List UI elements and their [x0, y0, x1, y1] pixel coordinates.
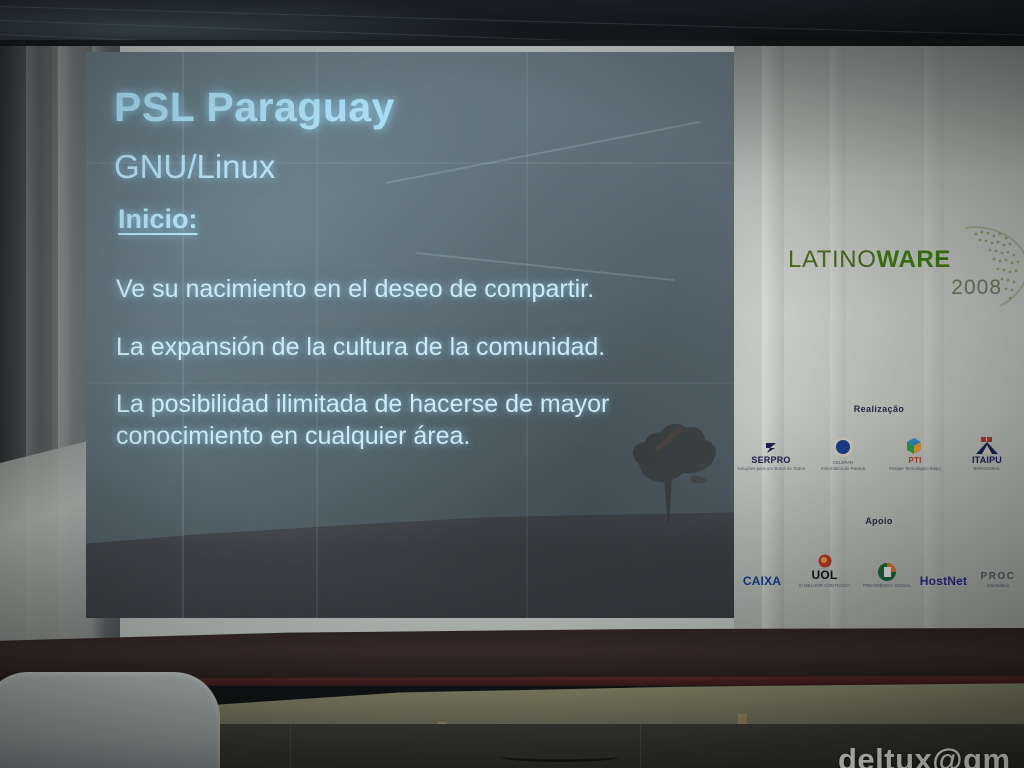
serpro-mark-icon [764, 441, 778, 455]
uol-mark-icon [818, 554, 832, 568]
sponsor-name: PROC [981, 571, 1016, 582]
slide-bullet: La expansión de la cultura de la comunid… [116, 332, 716, 364]
globe-icon [960, 224, 1024, 312]
sponsor-name: ITAIPU [972, 455, 1002, 465]
chair-back [0, 672, 220, 768]
projected-slide: PSL Paraguay GNU/Linux Inicio: Ve su nac… [86, 52, 734, 618]
realizacao-heading: Realização [734, 404, 1024, 414]
sponsor-name: CELEPAR [833, 460, 854, 465]
slide-title: PSL Paraguay [114, 84, 395, 131]
sponsor-caixa: CAIXA [736, 574, 788, 588]
slide-text-block: PSL Paraguay GNU/Linux Inicio: Ve su nac… [86, 52, 734, 618]
slide-subtitle: GNU/Linux [114, 148, 275, 186]
latinoware-word-bold: WARE [877, 246, 951, 273]
sponsor-name: HostNet [920, 574, 967, 588]
photo-scene: PSL Paraguay GNU/Linux Inicio: Ve su nac… [0, 0, 1024, 768]
sponsor-name: CAIXA [743, 574, 781, 588]
sponsor-pti: PTI Parque Tecnológico Itaipu [884, 436, 946, 471]
sponsor-itaipu: ITAIPU BINACIONAL [956, 437, 1018, 471]
realizacao-sponsor-row: SERPRO Soluções para um Brasil de Todos … [734, 436, 1024, 471]
sponsor-hostnet: HostNet [920, 574, 968, 588]
apoio-heading: Apoio [734, 516, 1024, 526]
banner-wrinkle [924, 46, 944, 638]
pti-mark-icon [905, 436, 925, 456]
sponsor-name: PTI [908, 456, 921, 465]
sponsor-tagline: Soluções para um Brasil de Todos [737, 466, 805, 471]
floor-cable [500, 752, 620, 762]
previdencia-mark-icon [876, 562, 898, 582]
slide-bullet-list: Ve su nacimiento en el deseo de comparti… [116, 274, 716, 478]
latinoware-word-light: LATINO [788, 246, 877, 273]
sponsor-tagline: Parque Tecnológico Itaipu [889, 466, 941, 471]
sponsor-proc: PROC informática [974, 571, 1022, 588]
celepar-mark-icon [832, 436, 854, 458]
sponsor-tagline: O MELHOR CONTEÚDO [799, 583, 850, 588]
slide-section-heading: Inicio: [118, 204, 198, 235]
banner-shading [734, 46, 1024, 638]
photo-watermark: deltux@gm [838, 742, 1011, 768]
floor-seam [640, 724, 641, 768]
banner-printed-area: LATINOWARE 2008 Realização SERPRO Soluçõ… [734, 46, 1024, 638]
sponsor-celepar: CELEPAR Informática do Paraná [812, 436, 874, 471]
apoio-sponsor-row: CAIXA UOL O MELHOR CONTEÚDO PREVIDÊNCIA … [734, 554, 1024, 588]
slide-bullet: Ve su nacimiento en el deseo de comparti… [116, 274, 716, 306]
sponsor-name: SERPRO [751, 455, 790, 465]
latinoware-logo: LATINOWARE 2008 [788, 246, 1018, 300]
sponsor-name: UOL [812, 568, 838, 582]
itaipu-mark-icon [974, 437, 1000, 455]
sponsor-tagline: PREVIDÊNCIA SOCIAL [863, 583, 911, 588]
sponsor-serpro: SERPRO Soluções para um Brasil de Todos [740, 441, 802, 471]
slide-bullet: La posibilidad ilimitada de hacerse de m… [116, 389, 716, 452]
sponsor-tagline: Informática do Paraná [821, 466, 865, 471]
table-cloth [0, 440, 92, 670]
sponsor-previdencia: PREVIDÊNCIA SOCIAL [861, 562, 913, 588]
sponsor-tagline: BINACIONAL [973, 466, 1000, 471]
floor-seam [290, 724, 291, 768]
banner-wrinkle [762, 46, 784, 638]
banner-wrinkle [830, 46, 846, 638]
sponsor-tagline: informática [987, 583, 1009, 588]
sponsor-uol: UOL O MELHOR CONTEÚDO [795, 554, 855, 588]
